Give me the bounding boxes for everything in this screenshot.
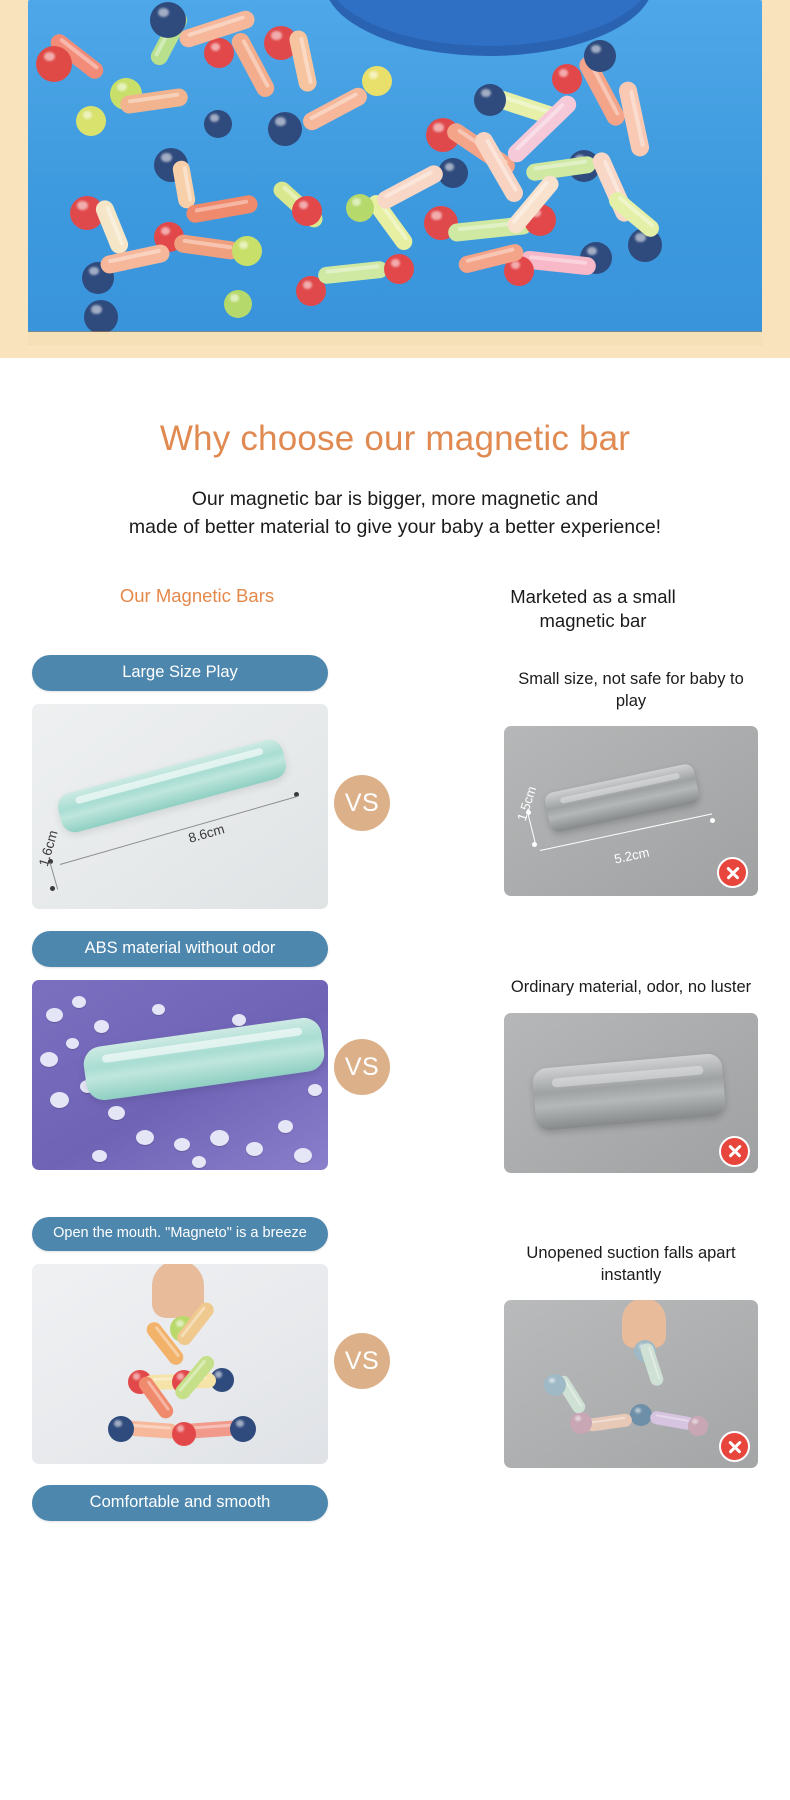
column-header-theirs-line-2: magnetic bar [428,609,758,633]
dimension-dot [50,886,55,891]
reject-icon [717,857,748,888]
block-ball [204,38,234,68]
comparison-section: Our Magnetic Bars Marketed as a small ma… [0,585,790,1545]
comparison-row: Open the mouth. "Magneto" is a breeze [32,1217,758,1467]
row-right-theirs: Unopened suction falls apart instantly [462,1217,758,1467]
row-left-ours: Large Size Play 8.6cm 1.6cm [32,655,328,913]
row-left-ours: Comfortable and smooth [32,1485,328,1545]
hero-table-edge [324,0,654,46]
dimension-label-length: 5.2cm [613,844,651,866]
comparison-row: Comfortable and smooth [32,1485,758,1545]
block-stick [173,233,241,260]
block-ball [584,40,616,72]
block-stick [374,162,446,212]
block-ball [172,1422,196,1446]
block-ball [474,84,506,116]
dimension-label-width: 1.6cm [36,828,61,867]
product-photo-theirs [504,1300,758,1468]
block-ball [384,254,414,284]
row-left-ours: ABS material without odor [32,931,328,1199]
block-stick [288,29,318,93]
product-photo-ours: 8.6cm 1.6cm [32,704,328,909]
block-ball [362,66,392,96]
block-ball [230,1416,256,1442]
vs-badge: VS [334,1039,390,1095]
feature-badge: Open the mouth. "Magneto" is a breeze [32,1217,328,1251]
dimension-dot [710,818,715,823]
product-photo-ours [32,980,328,1170]
block-ball [204,110,232,138]
reject-icon [719,1431,750,1462]
hero-photo [28,0,762,345]
product-photo-ours [32,1264,328,1464]
page-title: Why choose our magnetic bar [0,420,790,459]
block-stick [639,1342,665,1388]
vs-badge: VS [334,775,390,831]
column-header-theirs: Marketed as a small magnetic bar [402,585,758,633]
block-ball [224,290,252,318]
block-stick [300,85,370,134]
dimension-label-length: 8.6cm [187,821,226,846]
reject-icon [719,1136,750,1167]
block-ball [544,1374,566,1396]
vs-badge: VS [334,1333,390,1389]
hero-bottom-strip [28,332,762,345]
block-stick [93,198,131,257]
hero-banner [0,0,790,358]
comparison-headers: Our Magnetic Bars Marketed as a small ma… [32,585,758,633]
feature-badge: ABS material without odor [32,931,328,967]
product-photo-theirs: 5.2cm 1.5cm [504,726,758,896]
block-ball [108,1416,134,1442]
block-ball [36,46,72,82]
column-header-ours: Our Magnetic Bars [32,585,402,633]
competitor-caption: Small size, not safe for baby to play [504,669,758,712]
block-ball [232,236,262,266]
comparison-row: ABS material without odor [32,931,758,1199]
subtitle-line-1: Our magnetic bar is bigger, more magneti… [0,485,790,513]
competitor-caption: Ordinary material, odor, no luster [504,977,758,998]
block-ball [76,106,106,136]
block-stick [185,194,259,224]
block-ball [688,1416,708,1436]
row-right-theirs: Small size, not safe for baby to play 5.… [462,655,758,913]
comparison-row: Large Size Play 8.6cm 1.6cm VS Small siz… [32,655,758,913]
page-subtitle: Our magnetic bar is bigger, more magneti… [0,485,790,542]
block-ball [292,196,322,226]
block-ball [84,300,118,334]
block-ball [570,1412,592,1434]
subtitle-line-2: made of better material to give your bab… [0,513,790,541]
feature-badge: Large Size Play [32,655,328,691]
block-stick [171,159,196,209]
block-ball [268,112,302,146]
block-ball [346,194,374,222]
why-section: Why choose our magnetic bar Our magnetic… [0,358,790,541]
block-ball [552,64,582,94]
magnetic-bar-grey [544,763,701,834]
block-ball [630,1404,652,1426]
magnetic-bar-grey [532,1052,727,1130]
row-right-theirs: Ordinary material, odor, no luster [462,931,758,1199]
magnetic-bar-mint [55,736,289,835]
block-stick [585,1413,632,1432]
feature-badge: Comfortable and smooth [32,1485,328,1521]
block-stick [317,260,388,284]
competitor-caption: Unopened suction falls apart instantly [504,1243,758,1286]
row-left-ours: Open the mouth. "Magneto" is a breeze [32,1217,328,1467]
dimension-label-width: 1.5cm [514,784,539,822]
product-photo-theirs [504,1013,758,1173]
column-header-theirs-line-1: Marketed as a small [428,585,758,609]
